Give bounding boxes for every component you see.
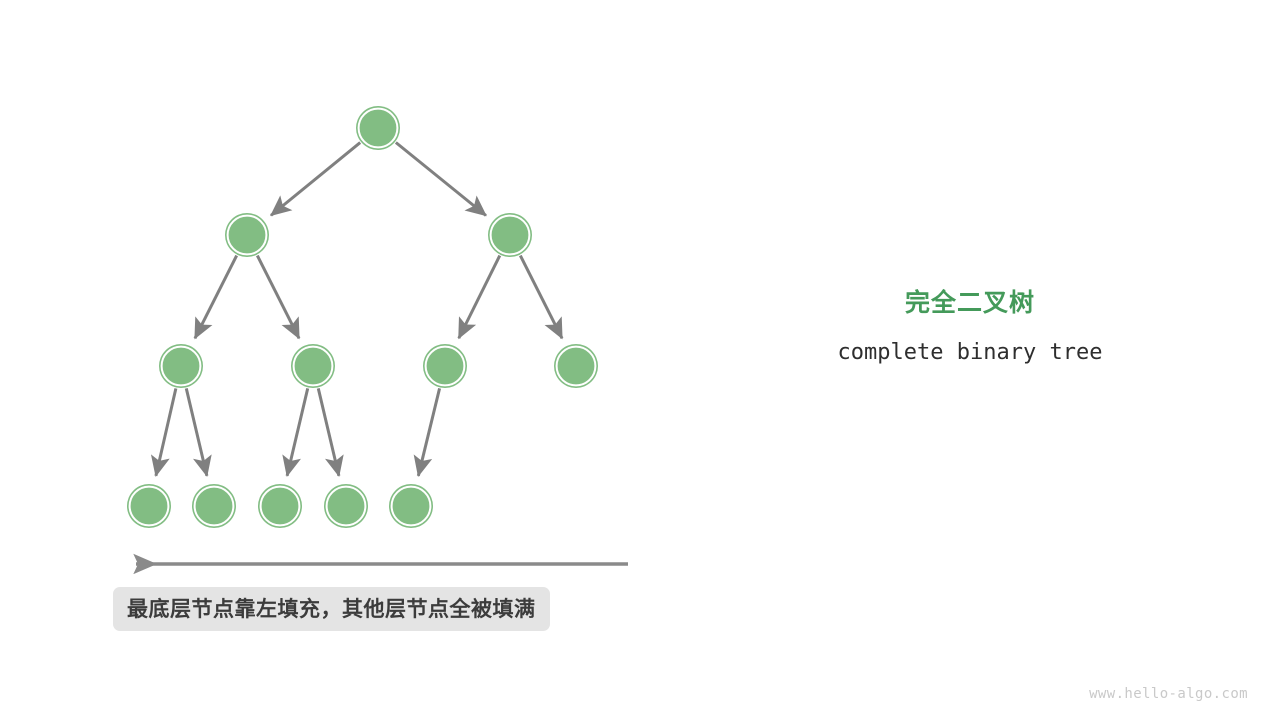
tree-node-core [328,488,364,524]
tree-node [291,344,335,388]
tree-edge [318,388,339,475]
tree-node-core [427,348,463,384]
tree-edge [396,142,486,215]
tree-edge [156,388,176,475]
tree-node-core [393,488,429,524]
tree-node-layer [127,106,598,528]
tree-node [192,484,236,528]
tree-edge [418,388,439,476]
tree-node [488,213,532,257]
tree-node [554,344,598,388]
tree-node [258,484,302,528]
tree-edge-layer [156,142,562,475]
tree-node-core [262,488,298,524]
tree-edge [459,256,500,339]
tree-node-core [492,217,528,253]
tree-edge [271,143,360,216]
tree-edge [520,256,562,339]
tree-node [356,106,400,150]
tree-edge [257,256,299,339]
legend-subtitle: complete binary tree [760,339,1180,367]
legend-title: 完全二叉树 [760,288,1180,318]
tree-node [423,344,467,388]
tree-node-core [131,488,167,524]
tree-node-core [163,348,199,384]
tree-node-core [360,110,396,146]
tree-node [389,484,433,528]
legend-block: 完全二叉树 complete binary tree [760,288,1180,367]
tree-node-core [196,488,232,524]
tree-edge [195,256,237,339]
diagram-stage: 完全二叉树 complete binary tree 最底层节点靠左填充，其他层… [0,0,1280,720]
tree-node [127,484,171,528]
tree-node-core [558,348,594,384]
tree-edge [287,388,308,475]
tree-node-core [229,217,265,253]
tree-node-core [295,348,331,384]
caption-banner: 最底层节点靠左填充，其他层节点全被填满 [113,587,550,631]
watermark: www.hello-algo.com [1089,686,1248,702]
caption-text: 最底层节点靠左填充，其他层节点全被填满 [127,599,536,620]
tree-edge [186,388,207,475]
tree-node [225,213,269,257]
tree-node [324,484,368,528]
tree-node [159,344,203,388]
